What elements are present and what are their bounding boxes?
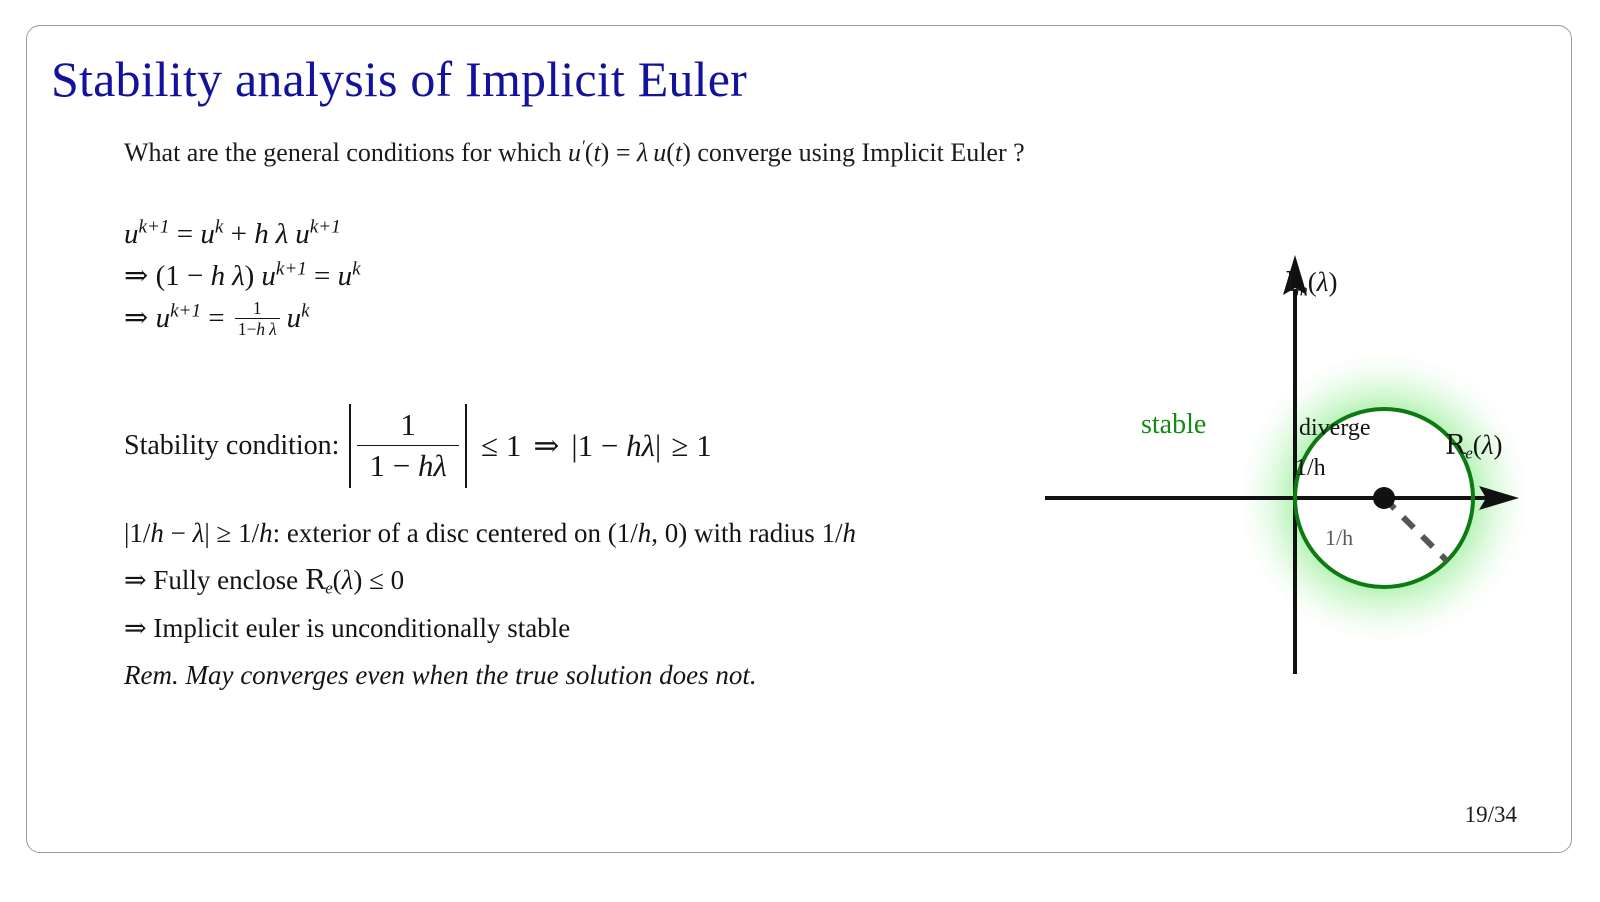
stability-abs-h: h (626, 428, 642, 463)
derivation-line-2: ⇒ (1 − hλ)uk+1 = uk (124, 256, 361, 298)
stability-den-one: 1 (369, 448, 385, 483)
stability-condition-line: Stability condition: 1 1 − hλ ≤1⇒|1 − hλ… (124, 404, 712, 488)
question-paren2-close: ) (682, 138, 691, 167)
c2-paren-open: ( (333, 565, 342, 595)
derivation-line-1: uk+1 = uk + hλuk+1 (124, 214, 361, 256)
c2-blackboard-R: R (305, 565, 325, 596)
d1-u3: u (295, 218, 310, 250)
real-axis-label: Re(λ) (1445, 430, 1502, 461)
derivation-line-3: ⇒ uk+1 = 11−hλuk (124, 298, 361, 340)
d3-den-minus: − (247, 319, 257, 339)
d3-frac-denominator: 1−hλ (235, 318, 280, 338)
im-paren-open: ( (1308, 267, 1317, 297)
c1-paren-close: ) (678, 518, 687, 548)
abs-bar-right (465, 404, 467, 488)
c1-h2: h (259, 518, 273, 548)
stability-condition-label: Stability condition: (124, 430, 339, 462)
c1-h: h (150, 518, 164, 548)
d2-sup2: k (352, 258, 361, 279)
c2-text: Fully enclose (153, 565, 304, 595)
d2-minus: − (180, 260, 211, 292)
c1-center-slash: / (630, 518, 638, 548)
conclusion-line-1: |1/h − λ| ≥ 1/h: exterior of a disc cent… (124, 510, 856, 557)
stability-implies: ⇒ (533, 428, 559, 463)
conclusion-remark: Rem. May converges even when the true so… (124, 652, 856, 699)
d2-lambda: λ (232, 260, 245, 292)
stability-tail: ≤1⇒|1 − hλ|≥1 (481, 428, 712, 464)
imaginary-axis-label: Im(λ) (1285, 267, 1337, 298)
re-paren-close: ) (1493, 430, 1502, 460)
radius-label-bottom: 1/h (1325, 525, 1353, 551)
c2-implies: ⇒ (124, 565, 153, 595)
page-title: Stability analysis of Implicit Euler (51, 53, 747, 106)
im-paren-close: ) (1328, 267, 1337, 297)
question-equals: = (609, 138, 637, 167)
d2-one: 1 (165, 260, 180, 292)
question-line: What are the general conditions for whic… (124, 138, 1025, 168)
c2-zero: 0 (391, 565, 405, 595)
re-subscript-e: e (1465, 444, 1472, 463)
c1-slash2: / (252, 518, 260, 548)
stability-abs-lambda: λ (642, 428, 655, 463)
question-text-before: What are the general conditions for whic… (124, 138, 568, 167)
disc-center-dot (1373, 487, 1395, 509)
c1-lambda: λ (193, 518, 205, 548)
d3-frac-numerator: 1 (235, 299, 280, 317)
question-lambda: λ (637, 138, 648, 167)
d1-sup3: k+1 (310, 216, 341, 237)
stability-den-h: h (418, 448, 434, 483)
stability-frac-denominator: 1 − hλ (357, 445, 458, 484)
c1-minus: − (164, 518, 193, 548)
stability-abs-one: 1 (578, 428, 594, 463)
d3-equals: = (201, 302, 232, 334)
stability-region-diagram: stable diverge 1/h 1/h Im(λ) Re(λ) (995, 233, 1555, 703)
stability-abs-close: | (655, 428, 661, 464)
question-paren2-open: ( (666, 138, 675, 167)
im-blackboard-I: I (1285, 267, 1296, 298)
stability-fraction: 1 1 − hλ (357, 408, 458, 483)
stability-den-minus: − (385, 448, 418, 483)
d2-sup: k+1 (276, 258, 307, 279)
d1-sup1: k+1 (139, 216, 170, 237)
c1-ge: ≥ (210, 518, 238, 548)
c2-lambda: λ (342, 565, 354, 595)
c1-text: : exterior of a disc centered on (273, 518, 608, 548)
im-subscript-m: m (1296, 281, 1308, 300)
c1-radius-slash: / (835, 518, 843, 548)
stable-region-label: stable (1141, 409, 1206, 441)
re-paren-open: ( (1473, 430, 1482, 460)
d2-equals: = (307, 260, 338, 292)
d3-den-h: h (256, 319, 265, 339)
stability-le: ≤ (481, 428, 498, 463)
c1-radius-one: 1 (821, 518, 835, 548)
c1-paren-open: ( (608, 518, 617, 548)
stability-ge: ≥ (671, 428, 688, 463)
c1-comma: , (651, 518, 665, 548)
d1-equals: = (169, 218, 200, 250)
radius-label-top: 1/h (1295, 455, 1326, 482)
diverge-region-label: diverge (1299, 415, 1371, 442)
d1-h: h (254, 218, 269, 250)
im-lambda: λ (1317, 267, 1329, 297)
stability-region-svg (995, 233, 1555, 703)
c1-text2: with radius (687, 518, 821, 548)
question-u: u (568, 138, 581, 167)
c1-one: 1 (129, 518, 143, 548)
c1-center-one: 1 (617, 518, 631, 548)
conclusion-line-3: ⇒ Implicit euler is unconditionally stab… (124, 605, 856, 652)
d3-sup2: k (301, 300, 310, 321)
d3-sup: k+1 (170, 300, 201, 321)
derivation-block: uk+1 = uk + hλuk+1 ⇒ (1 − hλ)uk+1 = uk ⇒… (124, 214, 361, 339)
d3-fraction: 11−hλ (235, 299, 280, 338)
d2-paren-close: ) (245, 260, 255, 292)
stability-abs-minus: − (593, 428, 626, 463)
d1-u1: u (124, 218, 139, 250)
d2-implies: ⇒ (124, 260, 156, 292)
conclusions-block: |1/h − λ| ≥ 1/h: exterior of a disc cent… (124, 510, 856, 699)
c2-le: ≤ (362, 565, 390, 595)
d3-u2: u (287, 302, 302, 334)
c1-center-zero: 0 (665, 518, 679, 548)
question-t1: t (593, 138, 600, 167)
slide-frame: Stability analysis of Implicit Euler Wha… (26, 25, 1572, 853)
c2-paren-close: ) (353, 565, 362, 595)
d2-h: h (211, 260, 226, 292)
stability-one2: 1 (696, 428, 712, 463)
d1-u2: u (200, 218, 215, 250)
question-text-after: converge using Implicit Euler ? (691, 138, 1025, 167)
re-lambda: λ (1482, 430, 1494, 460)
d1-plus: + (223, 218, 254, 250)
d3-den-one: 1 (238, 319, 247, 339)
abs-bar-left (349, 404, 351, 488)
stability-frac-numerator: 1 (357, 408, 458, 445)
c1-center-h: h (638, 518, 652, 548)
stability-den-lambda: λ (433, 448, 446, 483)
d2-u: u (261, 260, 276, 292)
re-blackboard-R: R (1445, 430, 1465, 461)
d3-den-lambda: λ (269, 319, 277, 339)
c1-one2: 1 (238, 518, 252, 548)
d2-u2: u (338, 260, 353, 292)
c1-radius-h: h (843, 518, 857, 548)
stability-one: 1 (506, 428, 522, 463)
d3-implies: ⇒ (124, 302, 156, 334)
d2-paren-open: ( (156, 260, 166, 292)
d3-u: u (156, 302, 171, 334)
conclusion-line-2: ⇒ Fully enclose Re(λ) ≤ 0 (124, 557, 856, 605)
page-number: 19/34 (1465, 802, 1517, 828)
question-u2: u (653, 138, 666, 167)
c2-sub-e: e (325, 579, 332, 598)
d1-lambda: λ (276, 218, 289, 250)
